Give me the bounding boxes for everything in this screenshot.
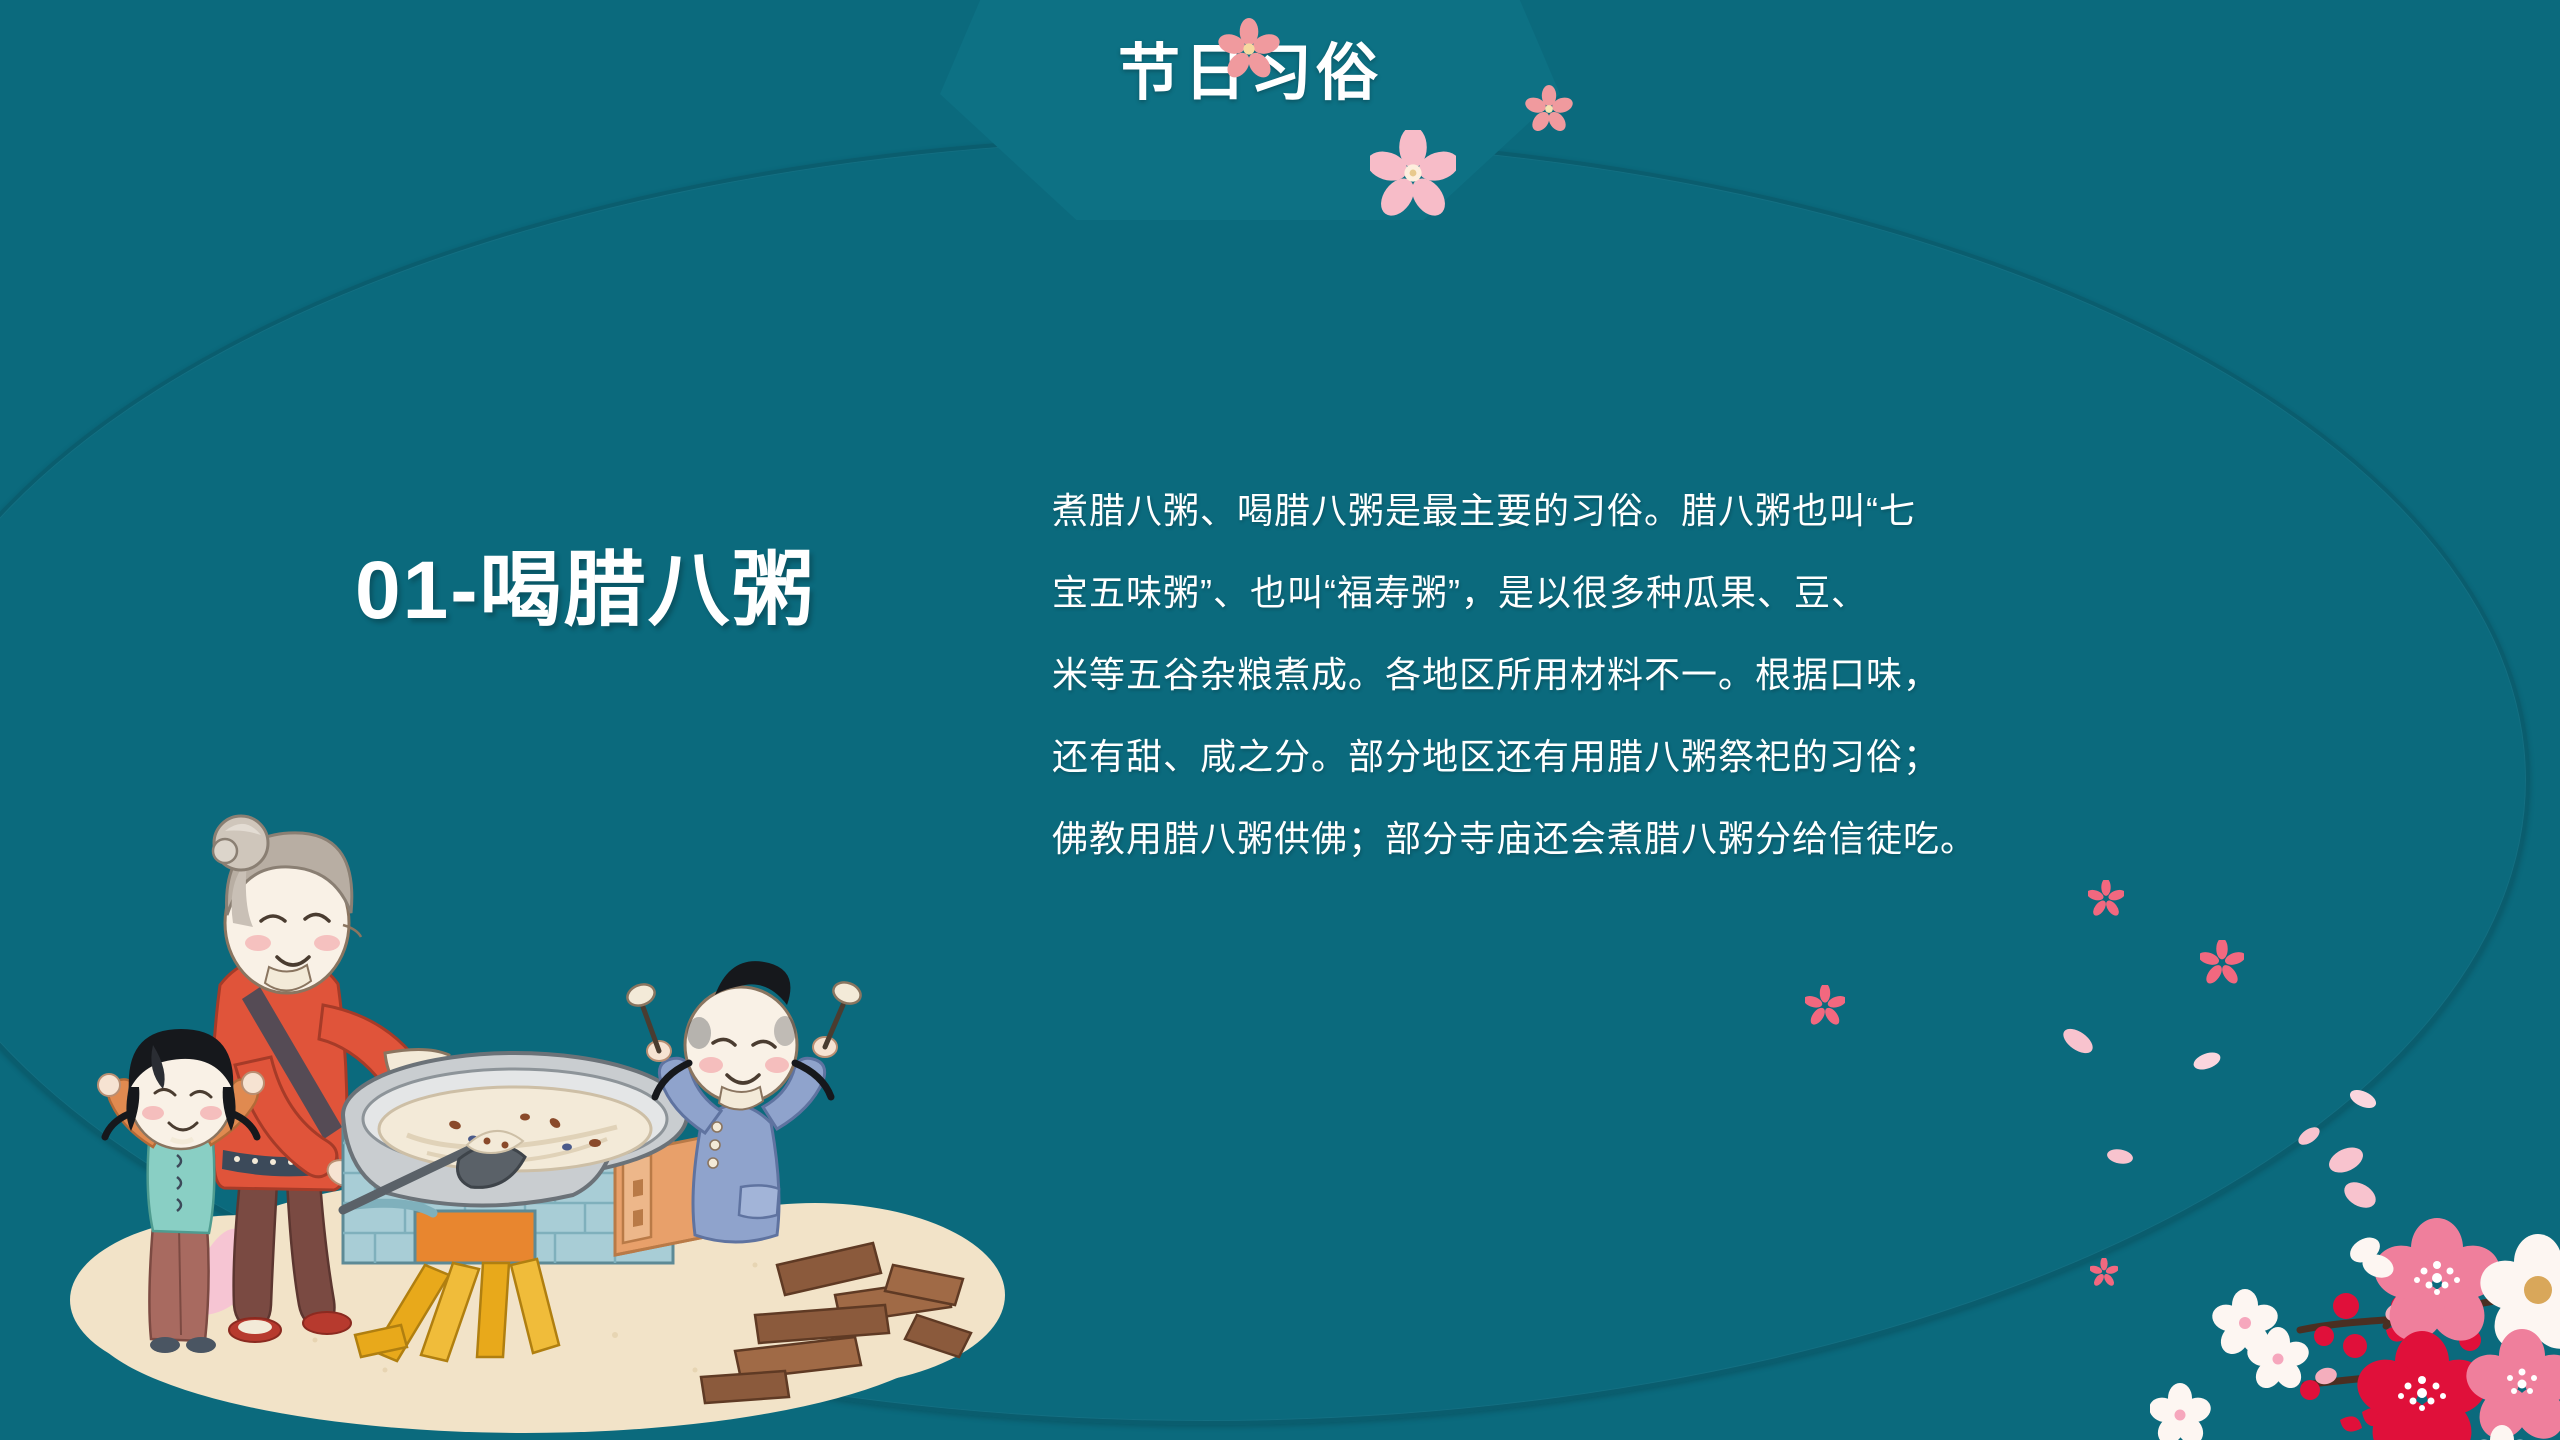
body-line-3: 米等五谷杂粮煮成。各地区所用材料不一。根据口味， [1052,634,2162,716]
petal-a-icon [2057,1022,2099,1061]
body-line-5: 佛教用腊八粥供佛；部分寺庙还会煮腊八粥分给信徒吃。 [1052,798,2162,880]
body-line-2: 宝五味粥”、也叫“福寿粥”，是以很多种瓜果、豆、 [1052,552,2162,634]
plum-petal-white-flying [2346,1232,2397,1281]
body-line-1: 煮腊八粥、喝腊八粥是最主要的习俗。腊八粥也叫“七 [1052,470,2162,552]
blossom-text-inline-icon [2088,880,2124,916]
plum-flower-white-small-2 [2244,1327,2312,1393]
plum-flower-white-small-3 [2150,1383,2214,1440]
blossom-far-right-small-icon [2090,1258,2118,1286]
petal-e-icon [2294,1122,2324,1150]
section-heading: 01-喝腊八粥 [355,523,816,642]
body-line-4: 还有甜、咸之分。部分地区还有用腊八粥祭祀的习俗； [1052,716,2162,798]
slide-canvas: 节日习俗 [0,0,2560,1440]
plum-flower-white-large [2474,1234,2560,1359]
blossom-right-mid-icon [2200,940,2244,984]
plum-flower-pink-large [2367,1218,2506,1352]
petal-d-icon [2346,1085,2381,1114]
blossom-text-bottom-icon [1805,985,1845,1025]
petal-b-icon [2190,1047,2224,1074]
plum-blossom-branch-decoration [2150,1140,2560,1440]
laba-porridge-illustration [55,795,1005,1440]
plum-flower-red-large [2350,1331,2494,1440]
petal-c-icon [2105,1146,2136,1168]
plum-flower-white-small-4 [2468,1425,2536,1440]
page-title: 节日习俗 [940,22,1560,112]
plum-flower-white-small-1 [2209,1289,2281,1360]
body-paragraph: 煮腊八粥、喝腊八粥是最主要的习俗。腊八粥也叫“七 宝五味粥”、也叫“福寿粥”，是… [1052,470,2162,880]
plum-petal-pink-flying [2325,1142,2380,1213]
plum-flower-pink-right [2460,1329,2560,1440]
